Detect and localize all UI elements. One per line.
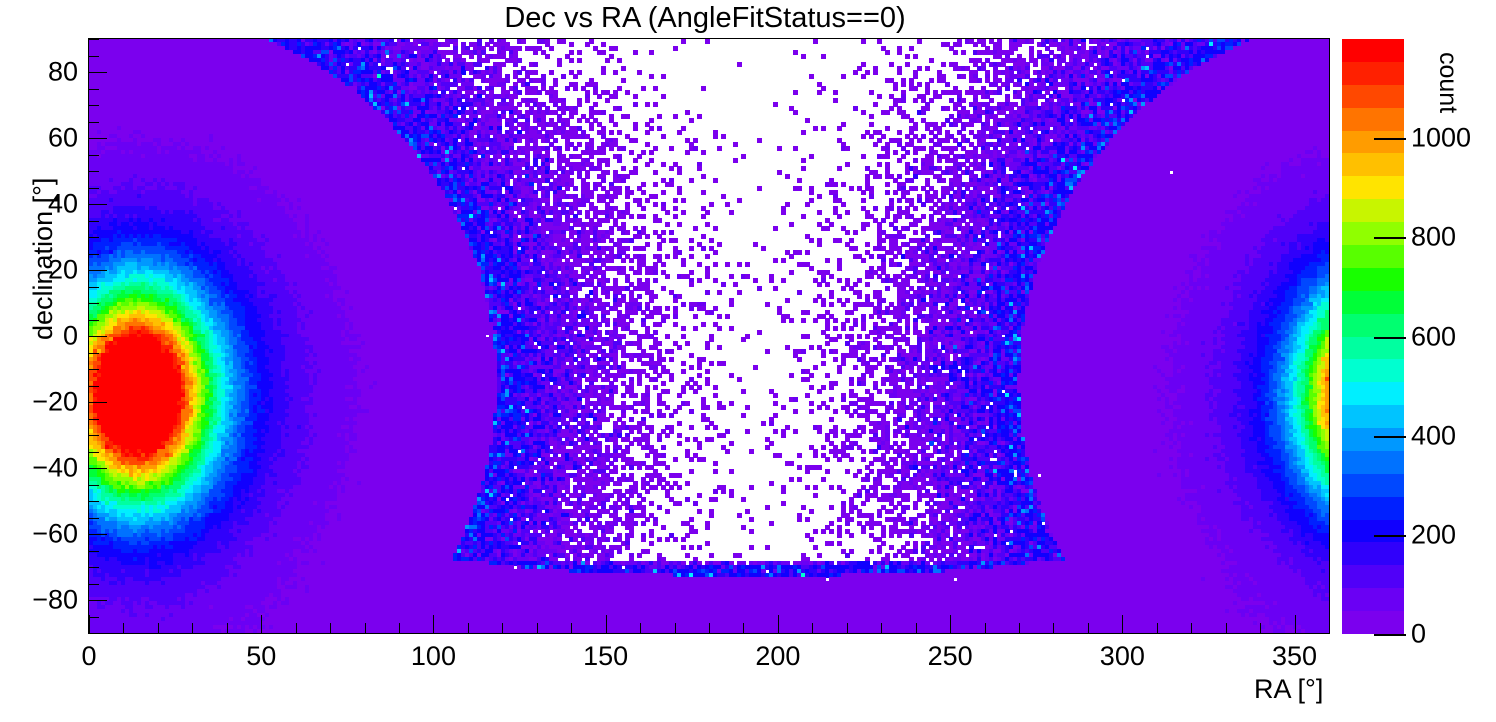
colorbar-band [1342,176,1404,200]
colorbar-tick-label: 1000 [1411,123,1471,154]
page-title: Dec vs RA (AngleFitStatus==0) [0,2,1410,35]
x-axis-title: RA [°] [1254,674,1323,705]
colorbar-tick-label: 200 [1411,519,1456,550]
x-tick-label: 350 [1272,641,1317,672]
colorbar-band [1342,405,1404,429]
colorbar-band [1342,291,1404,315]
y-tick-label: −40 [0,453,78,484]
colorbar-tick-label: 0 [1411,619,1426,650]
colorbar-band [1342,199,1404,223]
root-canvas: Dec vs RA (AngleFitStatus==0) −80−60−40−… [0,0,1496,722]
plot-frame[interactable] [88,38,1330,634]
y-tick-label: −60 [0,519,78,550]
colorbar-band [1342,85,1404,109]
colorbar-band [1342,382,1404,406]
y-tick-label: 80 [0,57,78,88]
y-tick-label: 60 [0,123,78,154]
colorbar-band [1342,108,1404,132]
colorbar-band [1342,565,1404,589]
colorbar-band [1342,245,1404,269]
histogram-heatmap[interactable] [89,39,1329,633]
colorbar-band [1342,588,1404,612]
x-tick-label: 50 [246,641,276,672]
colorbar-band [1342,520,1404,543]
x-tick-label: 0 [81,641,96,672]
colorbar-band [1342,337,1404,360]
y-tick-label: −80 [0,585,78,616]
colorbar-tick-label: 800 [1411,222,1456,253]
colorbar-band [1342,314,1404,338]
colorbar-band [1342,359,1404,383]
y-tick-label: −20 [0,387,78,418]
colorbar-gradient[interactable] [1342,39,1404,634]
colorbar-band [1342,451,1404,475]
colorbar-band [1342,542,1404,566]
colorbar-band [1342,497,1404,521]
x-tick-label: 100 [411,641,456,672]
colorbar-band [1342,268,1404,292]
colorbar-tick-label: 400 [1411,420,1456,451]
colorbar-band [1342,474,1404,498]
colorbar-tick [1374,634,1406,636]
x-tick-label: 300 [1100,641,1145,672]
colorbar-title: count [1433,52,1462,113]
y-axis-title: declination [°] [28,178,59,340]
colorbar-band [1342,153,1404,177]
x-tick-label: 200 [755,641,800,672]
colorbar-band [1342,131,1404,154]
colorbar-band [1342,39,1404,63]
x-tick-label: 150 [583,641,628,672]
x-tick-label: 250 [928,641,973,672]
colorbar-tick-label: 600 [1411,321,1456,352]
colorbar-band [1342,611,1404,634]
colorbar-band [1342,428,1404,452]
colorbar-band [1342,62,1404,86]
colorbar-band [1342,222,1404,246]
